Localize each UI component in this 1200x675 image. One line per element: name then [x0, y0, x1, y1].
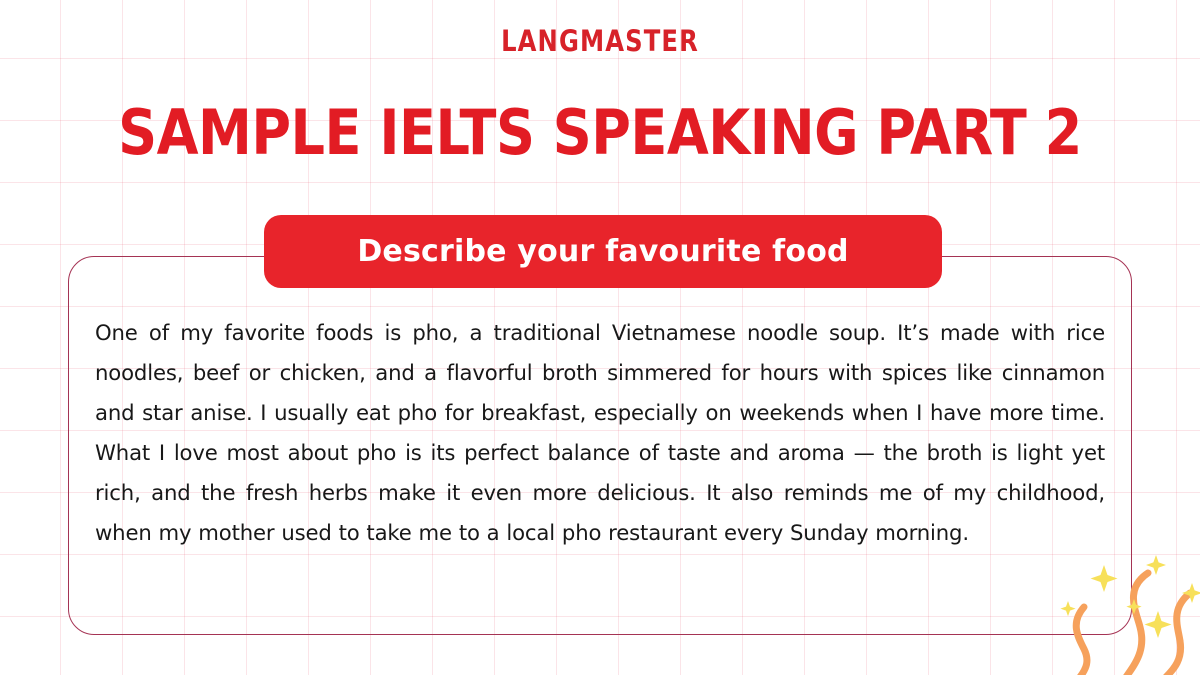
sparkle-icon-3 [1145, 611, 1172, 638]
page-title: SAMPLE IELTS SPEAKING PART 2 [18, 102, 1182, 164]
steam-swirl-right [1166, 593, 1190, 675]
sparkle-icon-4 [1182, 583, 1200, 603]
question-banner: Describe your favourite food [264, 215, 942, 288]
slide-stage: LANGMASTER SAMPLE IELTS SPEAKING PART 2 … [0, 0, 1200, 675]
answer-paragraph: One of my favorite foods is pho, a tradi… [95, 313, 1105, 553]
sparkle-icon-2 [1146, 555, 1166, 575]
langmaster-logo: LANGMASTER [42, 27, 1158, 56]
question-banner-label: Describe your favourite food [357, 237, 848, 267]
